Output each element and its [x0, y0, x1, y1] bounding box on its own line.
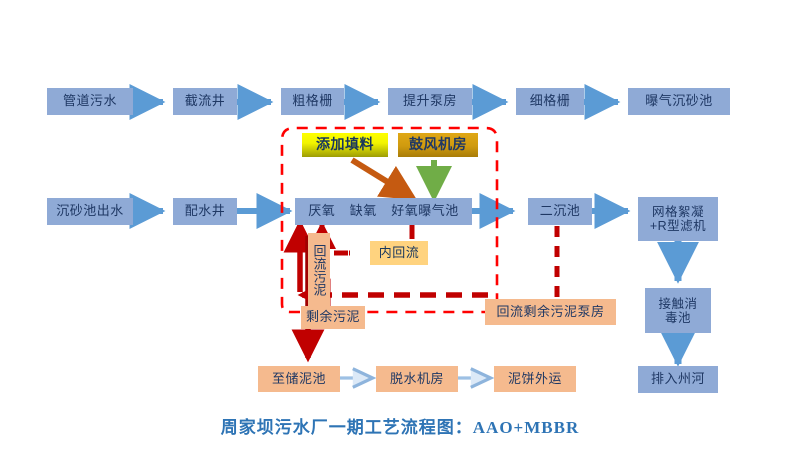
- process-box-zhi-chunichi[interactable]: 至储泥池: [258, 366, 340, 392]
- process-box-jiechu-xiaodu[interactable]: 接触消 毒池: [645, 288, 711, 333]
- process-box-gufeng-jifang[interactable]: 鼓风机房: [398, 133, 478, 157]
- label-return-sludge: 回流污泥: [308, 233, 330, 307]
- process-box-wangge-xuning[interactable]: 网格絮凝 +R型滤机: [638, 197, 718, 241]
- process-box-tuoshui-jifang[interactable]: 脱水机房: [376, 366, 458, 392]
- process-box-jieliu-jing[interactable]: 截流井: [173, 88, 237, 115]
- label-waste-sludge: 剩余污泥: [301, 306, 365, 329]
- process-box-baoqi-chenshachi[interactable]: 曝气沉砂池: [628, 88, 730, 115]
- process-box-nibing-waiyun[interactable]: 泥饼外运: [494, 366, 576, 392]
- process-box-er-chenchi[interactable]: 二沉池: [528, 198, 592, 225]
- process-box-peishui-jing[interactable]: 配水井: [173, 198, 237, 225]
- process-box-pairu-zhouhe[interactable]: 排入州河: [638, 366, 718, 393]
- media-feed-arrow: [352, 160, 412, 197]
- process-box-cu-zhashan[interactable]: 粗格栅: [281, 88, 344, 115]
- flowchart-canvas: 管道污水 截流井 粗格栅 提升泵房 细格栅 曝气沉砂池 添加填料 鼓风机房 沉砂…: [0, 0, 800, 450]
- aao-zone-aerobic: 好氧曝气池: [391, 204, 459, 219]
- aao-zone-anoxic: 缺氧: [350, 204, 377, 219]
- label-internal-recycle: 内回流: [370, 241, 428, 265]
- process-box-sludge-pump-house[interactable]: 回流剩余污泥泵房: [485, 299, 616, 325]
- aao-zone-anaerobic: 厌氧: [308, 204, 335, 219]
- process-box-tisheng-bengfang[interactable]: 提升泵房: [388, 88, 472, 115]
- process-box-xi-zhashan[interactable]: 细格栅: [516, 88, 584, 115]
- process-box-guandao-wushui[interactable]: 管道污水: [47, 88, 133, 115]
- process-box-chenshachi-chushui[interactable]: 沉砂池出水: [47, 198, 133, 225]
- diagram-title: 周家坝污水厂一期工艺流程图：AAO+MBBR: [0, 413, 800, 438]
- process-box-aao-tank[interactable]: 厌氧 缺氧 好氧曝气池: [295, 198, 472, 225]
- process-box-tianjia-tianliao[interactable]: 添加填料: [302, 133, 388, 157]
